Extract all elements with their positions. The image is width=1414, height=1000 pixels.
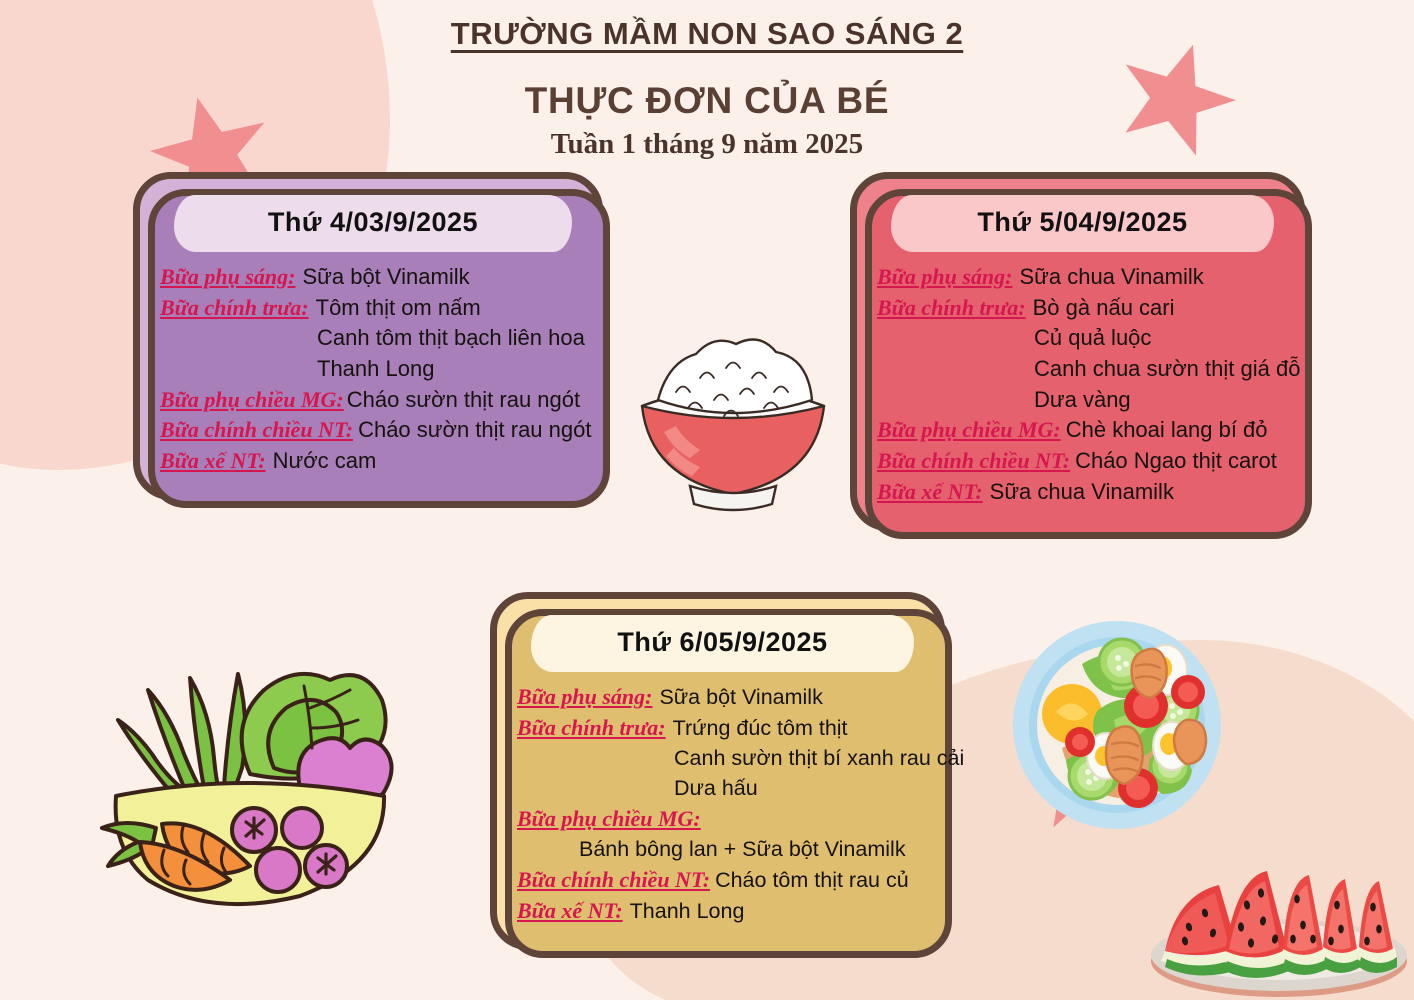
meal-label: Bữa chính trưa: (160, 293, 309, 323)
menu-row: Bữa xế NT:Nước cam (160, 446, 576, 476)
menu-row: Bữa phụ sáng:Sữa chua Vinamilk (877, 262, 1278, 292)
menu-row: Bữa chính trưa:Tôm thịt om nấm (160, 293, 576, 323)
meal-label: Bữa chính chiều NT: (160, 415, 353, 445)
meal-value: Canh tôm thịt bạch liên hoa (317, 323, 585, 353)
meal-value: Nước cam (273, 446, 377, 476)
menu-row: Bánh bông lan + Sữa bột Vinamilk (517, 835, 918, 864)
meal-label: Bữa phụ chiều MG: (517, 804, 701, 834)
card-date-banner: Thứ 5/04/9/2025 (891, 195, 1274, 252)
menu-row: Bữa xế NT:Sữa chua Vinamilk (877, 477, 1278, 507)
menu-row: Bữa phụ chiều MG:Cháo sườn thịt rau ngót (160, 385, 576, 415)
meal-value: Trứng đúc tôm thịt (673, 714, 848, 743)
meal-value: Cháo tôm thịt rau củ (715, 866, 909, 895)
meal-value: Cháo sườn thịt rau ngót (347, 385, 580, 415)
menu-row: Bữa chính trưa:Bò gà nấu cari (877, 293, 1278, 323)
meal-label: Bữa phụ chiều MG: (877, 415, 1061, 445)
card-date-label: Thứ 6/05/9/2025 (617, 627, 827, 657)
meal-value: Chè khoai lang bí đỏ (1066, 415, 1268, 445)
menu-row-list: Bữa phụ sáng:Sữa bột Vinamilk Bữa chính … (515, 682, 920, 926)
school-name: TRƯỜNG MẦM NON SAO SÁNG 2 (0, 16, 1414, 52)
meal-label: Bữa phụ chiều MG: (160, 385, 344, 415)
menu-row: Bữa phụ sáng:Sữa bột Vinamilk (517, 682, 918, 712)
page-header: TRƯỜNG MẦM NON SAO SÁNG 2 THỰC ĐƠN CỦA B… (0, 0, 1414, 161)
menu-row: Dưa vàng (877, 385, 1278, 415)
menu-row: Thanh Long (160, 354, 576, 384)
meal-value: Sữa chua Vinamilk (1019, 262, 1203, 292)
menu-card-thu4: Thứ 4/03/9/2025 Bữa phụ sáng:Sữa bột Vin… (133, 172, 603, 500)
page-title: THỰC ĐƠN CỦA BÉ (0, 80, 1414, 122)
salad-bowl-illustration (1010, 618, 1225, 833)
meal-value: Sữa bột Vinamilk (659, 683, 822, 712)
menu-row: Bữa chính trưa:Trứng đúc tôm thịt (517, 713, 918, 743)
menu-card-thu6: Thứ 6/05/9/2025 Bữa phụ sáng:Sữa bột Vin… (490, 592, 945, 950)
meal-value: Bánh bông lan + Sữa bột Vinamilk (579, 835, 906, 864)
menu-row-list: Bữa phụ sáng:Sữa bột Vinamilk Bữa chính … (158, 262, 578, 476)
meal-label: Bữa xế NT: (877, 477, 983, 507)
meal-value: Cháo sườn thịt rau ngót (358, 415, 591, 445)
menu-row: Bữa chính chiều NT:Cháo sườn thịt rau ng… (160, 415, 576, 445)
menu-row: Bữa xế NT:Thanh Long (517, 896, 918, 926)
meal-value: Dưa hấu (674, 774, 758, 803)
meal-value: Dưa vàng (1034, 385, 1131, 415)
menu-row: Bữa phụ chiều MG: (517, 804, 918, 834)
menu-row: Canh chua sườn thịt giá đỗ (877, 354, 1278, 384)
meal-value: Sữa chua Vinamilk (990, 477, 1174, 507)
menu-row: Bữa chính chiều NT:Cháo Ngao thịt carot (877, 446, 1278, 476)
meal-value: Canh sườn thịt bí xanh rau cải (674, 744, 964, 773)
menu-row: Dưa hấu (517, 774, 918, 803)
meal-label: Bữa phụ sáng: (517, 682, 652, 712)
rice-bowl-illustration (618, 328, 848, 518)
meal-value: Canh chua sườn thịt giá đỗ (1034, 354, 1300, 384)
meal-value: Bò gà nấu cari (1033, 293, 1175, 323)
meal-value: Sữa bột Vinamilk (302, 262, 469, 292)
meal-label: Bữa chính trưa: (877, 293, 1026, 323)
meal-label: Bữa xế NT: (160, 446, 266, 476)
menu-row: Củ quả luộc (877, 323, 1278, 353)
menu-card-thu5: Thứ 5/04/9/2025 Bữa phụ sáng:Sữa chua Vi… (850, 172, 1305, 531)
card-date-label: Thứ 5/04/9/2025 (977, 207, 1187, 237)
card-date-label: Thứ 4/03/9/2025 (268, 207, 478, 237)
menu-row: Canh tôm thịt bạch liên hoa (160, 323, 576, 353)
meal-value: Củ quả luộc (1034, 323, 1151, 353)
meal-value: Thanh Long (317, 354, 434, 384)
meal-label: Bữa phụ sáng: (877, 262, 1012, 292)
menu-row: Bữa chính chiều NT:Cháo tôm thịt rau củ (517, 865, 918, 895)
meal-label: Bữa phụ sáng: (160, 262, 295, 292)
menu-row: Bữa phụ sáng:Sữa bột Vinamilk (160, 262, 576, 292)
meal-value: Tôm thịt om nấm (316, 293, 481, 323)
meal-label: Bữa chính chiều NT: (517, 865, 710, 895)
meal-value: Cháo Ngao thịt carot (1075, 446, 1277, 476)
meal-value: Thanh Long (630, 897, 745, 926)
card-date-banner: Thứ 4/03/9/2025 (174, 195, 572, 252)
vegetable-platter-illustration (78, 628, 413, 928)
meal-label: Bữa chính trưa: (517, 713, 666, 743)
menu-row: Bữa phụ chiều MG:Chè khoai lang bí đỏ (877, 415, 1278, 445)
card-date-banner: Thứ 6/05/9/2025 (531, 615, 914, 672)
watermelon-plate-illustration (1145, 855, 1413, 1000)
menu-row: Canh sườn thịt bí xanh rau cải (517, 744, 918, 773)
week-subtitle: Tuần 1 tháng 9 năm 2025 (0, 128, 1414, 161)
meal-label: Bữa xế NT: (517, 896, 623, 926)
meal-label: Bữa chính chiều NT: (877, 446, 1070, 476)
menu-row-list: Bữa phụ sáng:Sữa chua Vinamilk Bữa chính… (875, 262, 1280, 507)
